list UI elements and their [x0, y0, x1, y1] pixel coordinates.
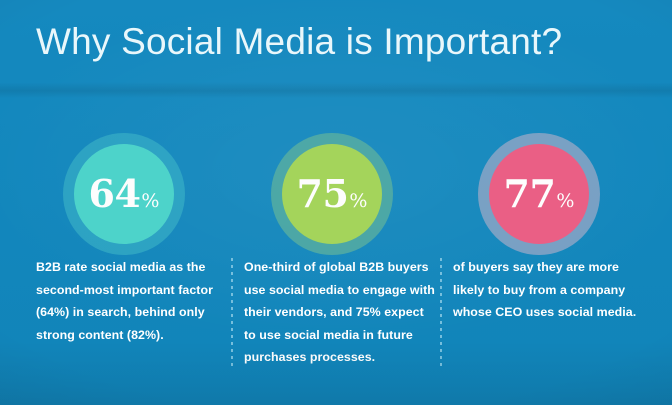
page-title: Why Social Media is Important?: [36, 19, 562, 65]
stat-caption-3: of buyers say they are more likely to bu…: [453, 256, 645, 324]
stat-circle-3-disc: 77 %: [489, 144, 589, 244]
stat-circle-1-disc: 64 %: [74, 144, 174, 244]
stat-circle-2-disc: 75 %: [282, 144, 382, 244]
stat-circle-3: 77 %: [478, 133, 600, 255]
stat-caption-1: B2B rate social media as the second-most…: [36, 256, 226, 346]
stat-captions-row: B2B rate social media as the second-most…: [0, 256, 672, 376]
stat-circle-2: 75 %: [271, 133, 393, 255]
column-divider-1: [231, 258, 233, 366]
stat-caption-2: One-third of global B2B buyers use socia…: [244, 256, 439, 369]
stat-circle-3-number: 77: [504, 175, 556, 213]
stat-circle-3-percent-symbol: %: [556, 192, 574, 211]
stat-circles-row: 64 % 75 % 77 %: [0, 133, 672, 257]
infographic-poster: Why Social Media is Important? 64 % 75 %: [0, 0, 672, 405]
column-divider-2: [440, 258, 442, 366]
stat-circle-1-value: 64 %: [89, 175, 160, 213]
stat-circle-3-value: 77 %: [504, 175, 575, 213]
stat-circle-1-number: 64: [89, 175, 141, 213]
stat-circle-2-value: 75 %: [297, 175, 368, 213]
title-underline-shadow: [0, 82, 672, 98]
stat-circle-1: 64 %: [63, 133, 185, 255]
stat-circle-1-percent-symbol: %: [141, 192, 159, 211]
stat-circle-2-percent-symbol: %: [349, 192, 367, 211]
stat-circle-2-number: 75: [297, 175, 349, 213]
